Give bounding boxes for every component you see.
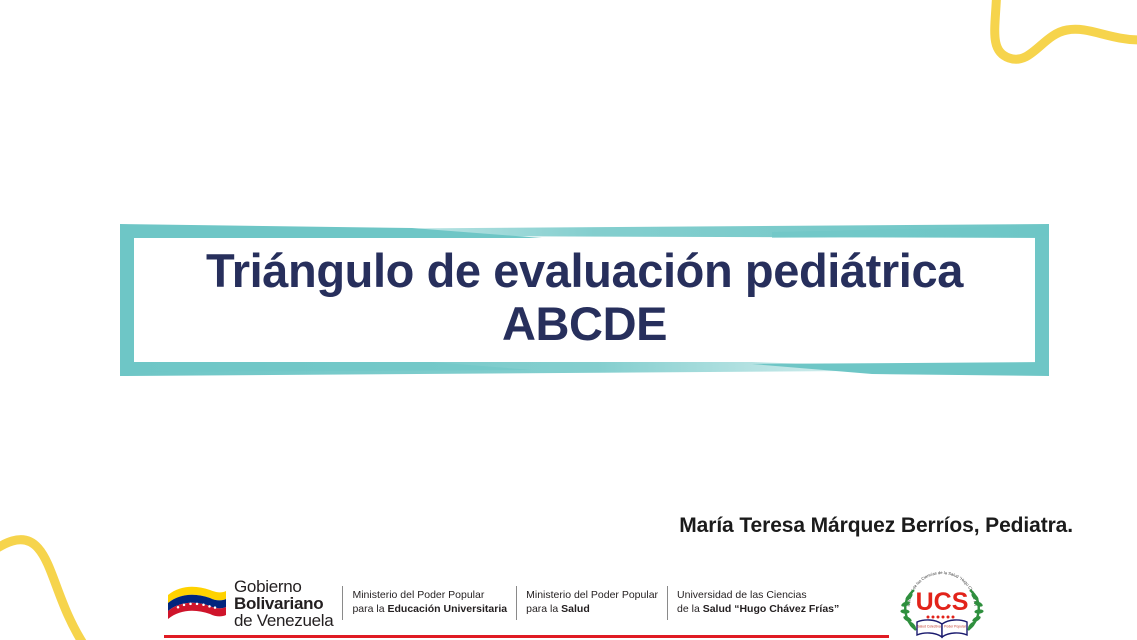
gobierno-wordmark: Gobierno Bolivariano de Venezuela: [234, 578, 333, 629]
footer-divider-3: [667, 586, 668, 620]
title-frame: Triángulo de evaluación pediátrica ABCDE: [112, 212, 1057, 384]
footer-logos-row: Gobierno Bolivariano de Venezuela Minist…: [164, 572, 994, 634]
yellow-squiggle-bottom-left-icon: [0, 514, 140, 640]
ministerio-salud-bold: Salud: [561, 603, 590, 615]
ucs-acronym: UCS: [916, 588, 969, 616]
ucs-book-label-left: Salud Colectiva: [917, 625, 941, 629]
universidad-bold: Salud “Hugo Chávez Frías”: [703, 603, 840, 615]
venezuela-flag-icon: [166, 583, 228, 623]
ministerio-educacion-line-1: Ministerio del Poder Popular: [352, 589, 507, 603]
title-line-1: Triángulo de evaluación pediátrica: [206, 245, 963, 298]
ucs-university-logo: Universidad de las Ciencias de la Salud …: [890, 562, 994, 640]
institutional-footer: Gobierno Bolivariano de Venezuela Minist…: [164, 572, 994, 640]
ucs-book-label-right: Poder Popular: [944, 625, 967, 629]
universidad-line-2: de la Salud “Hugo Chávez Frías”: [677, 603, 839, 617]
ministerio-salud-line-2: para la Salud: [526, 603, 658, 617]
footer-red-bar: [164, 635, 889, 638]
ministerio-educacion-line-2: para la Educación Universitaria: [352, 603, 507, 617]
footer-divider-1: [342, 586, 343, 620]
ministerio-educacion-universitaria: Ministerio del Poder Popular para la Edu…: [352, 589, 507, 617]
yellow-squiggle-top-right-icon: [959, 0, 1137, 114]
ministerio-educacion-bold: Educación Universitaria: [387, 603, 507, 615]
ministerio-educacion-prefix: para la: [352, 603, 387, 615]
ucs-open-book-icon: Salud Colectiva Poder Popular: [917, 620, 967, 637]
gov-line-3: de Venezuela: [234, 612, 333, 629]
ministerio-salud-line-1: Ministerio del Poder Popular: [526, 589, 658, 603]
title-line-2: ABCDE: [502, 298, 667, 351]
gov-line-1: Gobierno: [234, 578, 333, 595]
ministerio-salud: Ministerio del Poder Popular para la Sal…: [526, 589, 658, 617]
universidad-ciencias-salud: Universidad de las Ciencias de la Salud …: [677, 589, 839, 617]
title-text-block: Triángulo de evaluación pediátrica ABCDE: [112, 212, 1057, 384]
ministerio-salud-prefix: para la: [526, 603, 561, 615]
footer-divider-2: [516, 586, 517, 620]
author-name: María Teresa Márquez Berríos, Pediatra.: [679, 514, 1073, 538]
universidad-line-1: Universidad de las Ciencias: [677, 589, 839, 603]
gov-line-2: Bolivariano: [234, 595, 333, 612]
gobierno-bolivariano-logo: Gobierno Bolivariano de Venezuela: [164, 578, 333, 629]
presentation-slide: Triángulo de evaluación pediátrica ABCDE…: [0, 0, 1137, 640]
universidad-prefix: de la: [677, 603, 703, 615]
